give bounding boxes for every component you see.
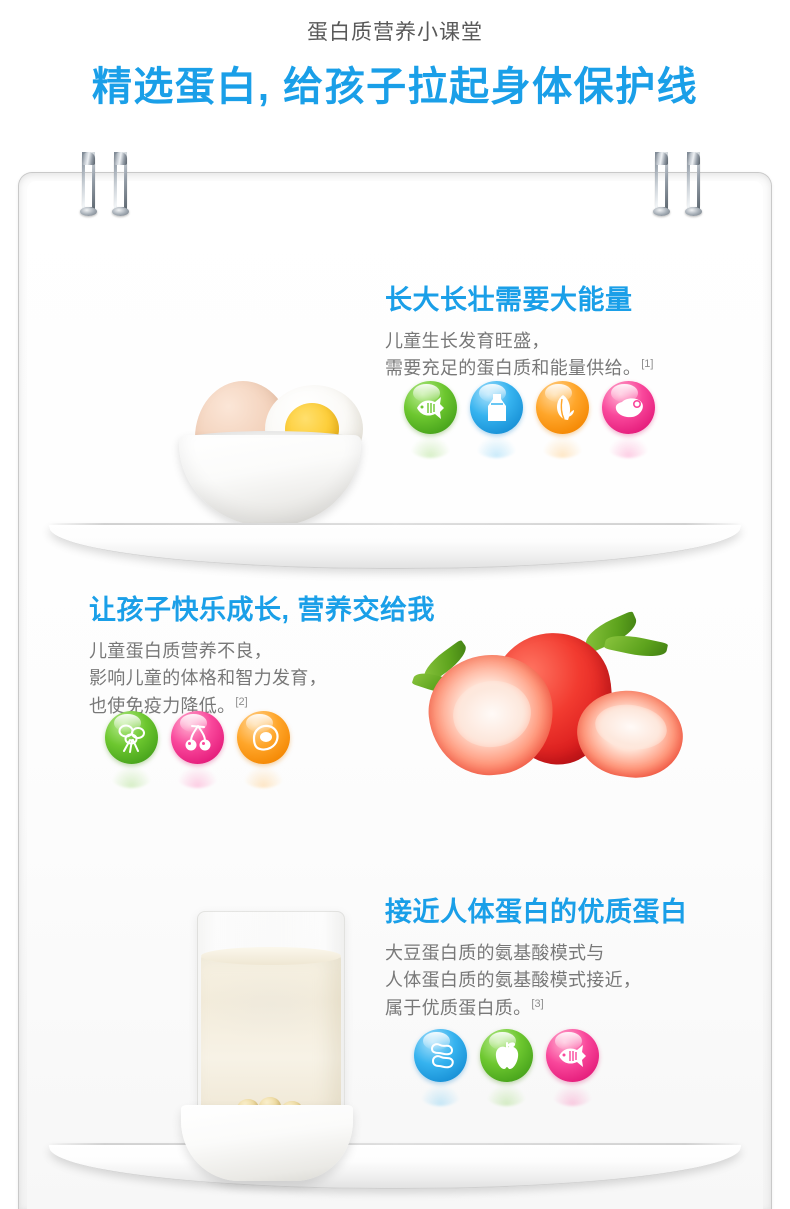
section-2-icon-row [105, 711, 290, 764]
apple-icon[interactable] [480, 1029, 533, 1082]
binder-ring-foot [653, 207, 670, 216]
binder-ring-3 [655, 152, 668, 214]
icon-cherry-wrap [171, 711, 224, 764]
binder-ring-1 [82, 152, 95, 214]
soy-milk-surface [201, 947, 341, 965]
white-bowl [179, 435, 361, 527]
header-kicker: 蛋白质营养小课堂 [0, 0, 790, 43]
icon-reflection [542, 436, 583, 458]
icon-reflection [476, 436, 517, 458]
icon-egg-wrap [237, 711, 290, 764]
icon-fish-wrap [404, 381, 457, 434]
page-header: 蛋白质营养小课堂 精选蛋白, 给孩子拉起身体保护线 [0, 0, 790, 140]
section-3-body-line-2: 人体蛋白质的氨基酸模式接近， [385, 967, 688, 994]
section-3-title: 接近人体蛋白的优质蛋白 [385, 897, 688, 928]
egg-icon[interactable] [237, 711, 290, 764]
peanut-icon[interactable] [414, 1029, 467, 1082]
content-card-inner: 长大长壮需要大能量 儿童生长发育旺盛， 需要充足的蛋白质和能量供给。[1] [27, 181, 763, 1209]
binder-ring-top [687, 152, 700, 165]
meat-icon[interactable] [602, 381, 655, 434]
binder-ring-foot [685, 207, 702, 216]
icon-apple-wrap [480, 1029, 533, 1082]
section-2-reference: [2] [235, 696, 247, 708]
glass-highlight [203, 967, 339, 1041]
vegetable-icon[interactable] [105, 711, 158, 764]
icon-peanut-wrap [414, 1029, 467, 1082]
soybean-bowl [181, 1105, 353, 1181]
section-2-text: 让孩子快乐成长, 营养交给我 儿童蛋白质营养不良， 影响儿童的体格和智力发育， … [89, 595, 435, 720]
cherry-icon[interactable] [171, 711, 224, 764]
section-3-icon-row [414, 1029, 599, 1082]
section-1-body-line-2: 需要充足的蛋白质和能量供给。[1] [385, 355, 653, 382]
icon-fish-wrap [546, 1029, 599, 1082]
photo-boiled-eggs [147, 373, 397, 529]
section-1-icon-row [404, 381, 655, 434]
section-3-body-line-1: 大豆蛋白质的氨基酸模式与 [385, 940, 688, 967]
section-1-reference: [1] [641, 358, 653, 370]
section-3-body: 大豆蛋白质的氨基酸模式与 人体蛋白质的氨基酸模式接近， 属于优质蛋白质。[3] [385, 940, 688, 1022]
binder-ring-foot [80, 207, 97, 216]
binder-ring-top [82, 152, 95, 165]
icon-vegetable-wrap [105, 711, 158, 764]
section-1-body: 儿童生长发育旺盛， 需要充足的蛋白质和能量供给。[1] [385, 328, 653, 383]
section-2-body-line-2: 影响儿童的体格和智力发育， [89, 665, 435, 692]
section-1-title: 长大长壮需要大能量 [385, 285, 653, 316]
section-1-body-line-1: 儿童生长发育旺盛， [385, 328, 653, 355]
infographic-page: 蛋白质营养小课堂 精选蛋白, 给孩子拉起身体保护线 [0, 0, 790, 1209]
icon-reflection [552, 1084, 593, 1106]
binder-ring-foot [112, 207, 129, 216]
icon-meat-wrap [602, 381, 655, 434]
icon-reflection [486, 1084, 527, 1106]
section-2-title: 让孩子快乐成长, 营养交给我 [89, 595, 435, 626]
icon-reflection [177, 766, 218, 788]
binder-ring-top [114, 152, 127, 165]
icon-reflection [243, 766, 284, 788]
section-2-body: 儿童蛋白质营养不良， 影响儿童的体格和智力发育， 也使免疫力降低。[2] [89, 638, 435, 720]
section-2-body-line-1: 儿童蛋白质营养不良， [89, 638, 435, 665]
section-1-text: 长大长壮需要大能量 儿童生长发育旺盛， 需要充足的蛋白质和能量供给。[1] [385, 285, 653, 383]
icon-reflection [111, 766, 152, 788]
section-growth: 让孩子快乐成长, 营养交给我 儿童蛋白质营养不良， 影响儿童的体格和智力发育， … [27, 573, 763, 893]
binder-ring-4 [687, 152, 700, 214]
fish-icon[interactable] [404, 381, 457, 434]
binder-ring-2 [114, 152, 127, 214]
binder-ring-top [655, 152, 668, 165]
section-3-body-line-3: 属于优质蛋白质。[3] [385, 995, 688, 1022]
icon-reflection [410, 436, 451, 458]
icon-reflection [608, 436, 649, 458]
icon-grain-wrap [536, 381, 589, 434]
fish-icon[interactable] [546, 1029, 599, 1082]
photo-strawberries [399, 613, 689, 791]
milk-bottle-icon[interactable] [470, 381, 523, 434]
section-3-text: 接近人体蛋白的优质蛋白 大豆蛋白质的氨基酸模式与 人体蛋白质的氨基酸模式接近， … [385, 897, 688, 1022]
shelf-1 [49, 525, 741, 569]
icon-reflection [420, 1084, 461, 1106]
page-title: 精选蛋白, 给孩子拉起身体保护线 [0, 43, 790, 107]
section-soy-protein: 接近人体蛋白的优质蛋白 大豆蛋白质的氨基酸模式与 人体蛋白质的氨基酸模式接近， … [27, 881, 763, 1209]
content-card: 长大长壮需要大能量 儿童生长发育旺盛， 需要充足的蛋白质和能量供给。[1] [18, 172, 772, 1209]
strawberry-leaf [604, 631, 668, 661]
section-energy: 长大长壮需要大能量 儿童生长发育旺盛， 需要充足的蛋白质和能量供给。[1] [27, 263, 763, 583]
icon-milk-wrap [470, 381, 523, 434]
grain-icon[interactable] [536, 381, 589, 434]
photo-soy-milk [167, 889, 407, 1189]
section-3-reference: [3] [531, 998, 543, 1010]
